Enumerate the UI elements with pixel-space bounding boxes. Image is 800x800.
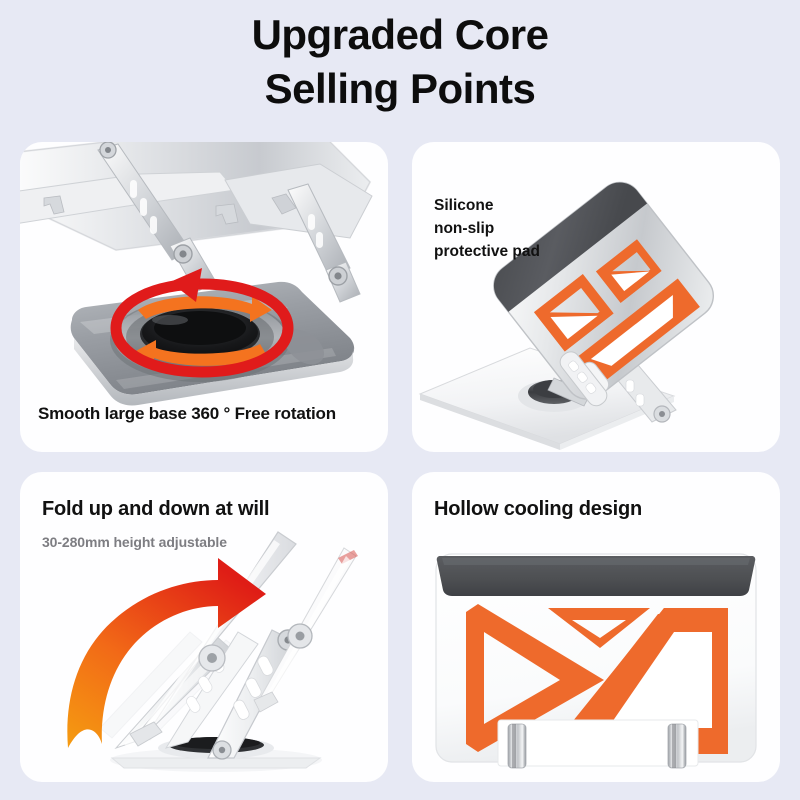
card-heading-fold: Fold up and down at will	[42, 498, 269, 521]
rotating-base-illustration	[20, 142, 388, 452]
feature-card-fold[interactable]: Fold up and down at will 30-280mm height…	[20, 472, 388, 782]
silicone-pad-line-1: Silicone	[434, 194, 540, 217]
feature-card-cooling[interactable]: Hollow cooling design	[412, 472, 780, 782]
page-title: Upgraded Core Selling Points	[0, 0, 800, 116]
card-text-silicone-pad: Silicone non-slip protective pad	[434, 194, 540, 263]
feature-card-rotation[interactable]: Smooth large base 360 ° Free rotation	[20, 142, 388, 452]
silicone-pad-line-2: non-slip	[434, 217, 540, 240]
card-subheading-fold: 30-280mm height adjustable	[42, 534, 227, 550]
feature-card-silicone-pad[interactable]: Silicone non-slip protective pad	[412, 142, 780, 452]
page-title-line-2: Selling Points	[0, 62, 800, 116]
silicone-pad-line-3: protective pad	[434, 240, 540, 263]
card-heading-cooling: Hollow cooling design	[434, 498, 642, 521]
feature-card-grid: Smooth large base 360 ° Free rotation	[20, 142, 780, 782]
page-title-line-1: Upgraded Core	[0, 8, 800, 62]
tilted-stand-silicone-pad-illustration	[412, 142, 780, 452]
